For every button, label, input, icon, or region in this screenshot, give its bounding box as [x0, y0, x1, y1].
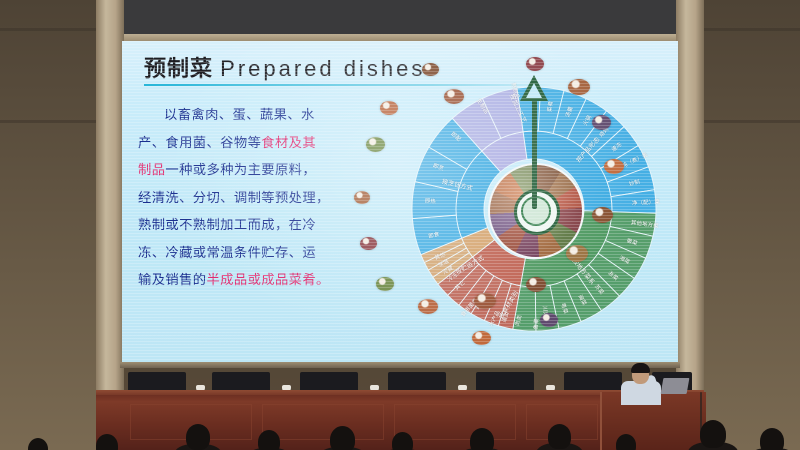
audience-head: [548, 424, 571, 449]
food-photo: [360, 237, 377, 250]
desk-panel: [262, 404, 384, 440]
body-text-run: 以畜禽肉、蛋、蔬果、水: [164, 107, 315, 122]
food-photo: [474, 293, 496, 309]
food-photo: [354, 191, 370, 204]
screen-bezel-lip: [122, 34, 678, 41]
food-photo: [376, 277, 394, 291]
slide-body-line: 冻、冷藏或常温条件贮存、运: [138, 239, 390, 267]
screen-frame-bottom: [120, 362, 680, 368]
room-pillar-left: [96, 0, 124, 450]
food-photo: [540, 313, 558, 327]
food-photo: [568, 79, 590, 95]
desk-panel: [394, 404, 516, 440]
food-photo: [604, 159, 624, 174]
highlighted-text: 半成品或成品菜肴。: [206, 272, 329, 287]
slide-body-text: 以畜禽肉、蛋、蔬果、水产、食用菌、谷物等食材及其制品一种或多种为主要原料，经清洗…: [138, 101, 390, 294]
slide-body-line: 输及销售的半成品或成品菜肴。: [138, 266, 390, 294]
audience-head: [330, 426, 355, 450]
body-text-run: 经清洗、分切、调制等预处理，: [138, 190, 330, 205]
wall-seam: [704, 120, 800, 123]
speaker-hair: [631, 363, 650, 373]
food-photo: [366, 137, 385, 152]
classification-wheel: 按烹饪方式即食即热即烹即配按加工工艺生制品熟制品按产品形态主食菜肴汤羹火锅烧烤速…: [398, 73, 670, 345]
food-photo: [418, 299, 438, 314]
food-photo: [592, 115, 611, 130]
screenshot-root: 预制菜 Prepared dishes 以畜禽肉、蛋、蔬果、水产、食用菌、谷物等…: [0, 0, 800, 450]
slide-body-line: 熟制或不熟制加工而成，在冷: [138, 211, 390, 239]
body-text-run: 冻、冷藏或常温条件贮存、运: [138, 245, 316, 260]
wheel-sector-label: 菜肴: [545, 100, 555, 112]
body-text-run: 一种或多种为主要原料，: [165, 162, 316, 177]
food-photo: [526, 277, 546, 292]
wheel-pointer-arrow-inner: [526, 83, 542, 98]
screen-bezel-top: [122, 0, 678, 36]
food-photo: [444, 89, 464, 104]
audience-head: [186, 424, 210, 450]
highlighted-text: 食材及其: [261, 135, 316, 150]
slide-title: 预制菜 Prepared dishes: [144, 51, 425, 83]
wall-seam: [0, 120, 96, 123]
wall-seam: [704, 28, 800, 31]
wall-left-panel: [0, 0, 96, 450]
food-photo: [592, 207, 613, 223]
speaker-laptop: [661, 378, 690, 394]
food-photo: [566, 245, 588, 262]
wheel-sector-label: 即热: [425, 196, 437, 205]
highlighted-text: 制品: [138, 162, 165, 177]
food-photo: [380, 101, 398, 115]
projection-screen: 预制菜 Prepared dishes 以畜禽肉、蛋、蔬果、水产、食用菌、谷物等…: [122, 41, 678, 363]
audience-head: [470, 428, 494, 450]
wall-seam: [0, 28, 96, 31]
slide-title-cn: 预制菜: [144, 56, 213, 81]
body-text-run: 熟制或不熟制加工而成，在冷: [138, 217, 316, 232]
audience-head: [392, 432, 413, 450]
slide-body-line: 以畜禽肉、蛋、蔬果、水: [138, 101, 390, 129]
audience-head: [258, 430, 280, 450]
body-text-run: 产、食用菌、谷物等: [138, 135, 261, 150]
wall-right-panel: [704, 0, 800, 450]
food-photo: [422, 63, 439, 76]
audience-head: [700, 420, 726, 448]
audience-head: [616, 434, 636, 450]
wheel-sector-label: 净（配）菜: [632, 197, 660, 207]
slide-body-line: 经清洗、分切、调制等预处理，: [138, 184, 390, 212]
food-photo: [472, 331, 491, 345]
food-photo: [526, 57, 544, 71]
slide-title-en: Prepared dishes: [220, 56, 425, 81]
slide-body-line: 制品一种或多种为主要原料，: [138, 156, 390, 184]
body-text-run: 输及销售的: [138, 272, 206, 287]
slide-body-line: 产、食用菌、谷物等食材及其: [138, 129, 390, 157]
audience-head: [760, 428, 784, 450]
